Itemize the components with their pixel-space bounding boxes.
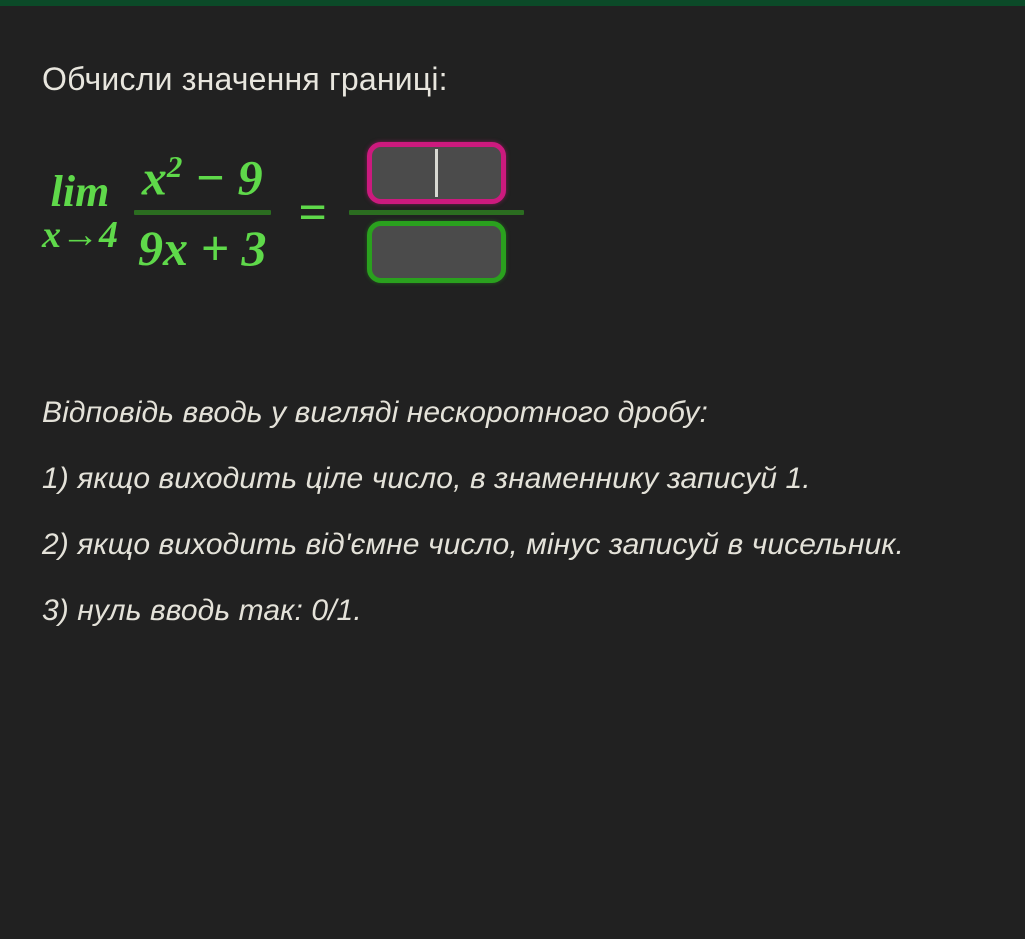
limit-equation-row: lim x→4 x2 − 9 9x + 3 =	[42, 122, 1025, 302]
expression-denominator: 9x + 3	[134, 223, 271, 273]
limit-subscript: x→4	[42, 216, 118, 254]
expression-fraction: x2 − 9 9x + 3	[134, 151, 271, 274]
expression-fraction-bar	[134, 210, 271, 215]
numerator-rest: − 9	[182, 149, 262, 205]
limit-keyword: lim	[51, 170, 110, 214]
answer-fraction-bar	[349, 210, 524, 215]
numerator-exponent: 2	[167, 149, 183, 184]
answer-numerator-input[interactable]	[367, 142, 506, 204]
instructions-block: Відповідь вводь у вигляді нескоротного д…	[42, 380, 1025, 644]
expression-numerator: x2 − 9	[138, 151, 267, 203]
page-title: Обчисли значення границі:	[42, 60, 1025, 98]
instructions-heading: Відповідь вводь у вигляді нескоротного д…	[42, 380, 1025, 446]
question-content: Обчисли значення границі: lim x→4 x2 − 9…	[0, 6, 1025, 939]
numerator-base: x	[142, 149, 167, 205]
answer-denominator-input[interactable]	[367, 221, 506, 283]
answer-fraction	[349, 142, 524, 283]
text-caret	[435, 149, 438, 197]
limit-operator: lim x→4	[42, 170, 118, 254]
instruction-item-3: 3) нуль вводь так: 0/1.	[42, 578, 1025, 644]
instruction-item-1: 1) якщо виходить ціле число, в знаменник…	[42, 446, 1025, 512]
instruction-item-2: 2) якщо виходить від'ємне число, мінус з…	[42, 512, 1025, 578]
equals-sign: =	[299, 187, 328, 237]
